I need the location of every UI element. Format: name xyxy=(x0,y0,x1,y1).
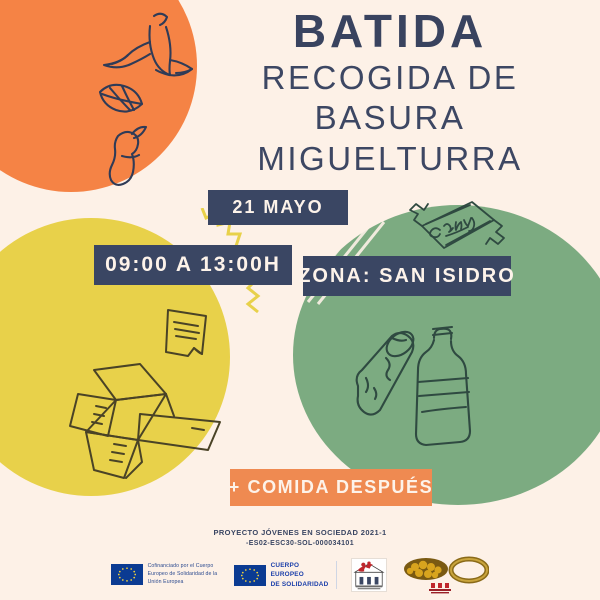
solidarity-corps-line-1: CUERPO xyxy=(271,561,329,570)
green-circle-decoration xyxy=(293,205,600,505)
town-hall-logo xyxy=(351,558,387,592)
town-hall-icon xyxy=(352,559,386,591)
project-reference-line-2: -ES02-ESC30-SOL-000034101 xyxy=(0,540,600,547)
eu-stars-icon-secondary xyxy=(234,565,266,586)
logo-european-solidarity-corps: CUERPO EUROPEO DE SOLIDARIDAD xyxy=(234,561,338,589)
headline-line-3: MIGUELTURRA xyxy=(186,139,594,180)
date-badge: 21 MAYO xyxy=(208,190,348,225)
association-logo xyxy=(401,556,489,594)
poster-canvas: BATIDA RECOGIDA DE BASURA MIGUELTURRA 21… xyxy=(0,0,600,600)
orange-circle-decoration xyxy=(0,0,197,192)
association-emblem-icon xyxy=(401,556,489,594)
zone-badge: ZONA: SAN ISIDRO xyxy=(303,256,511,296)
page-title: BATIDA RECOGIDA DE BASURA MIGUELTURRA xyxy=(186,6,594,180)
headline-title: BATIDA xyxy=(186,6,594,58)
project-reference: PROYECTO JÓVENES EN SOCIEDAD 2021-1 -ES0… xyxy=(0,528,600,547)
food-after-badge: + COMIDA DESPUÉS xyxy=(230,469,432,506)
logo-strip: Cofinanciado por el Cuerpo Europeo de So… xyxy=(0,553,600,597)
eu-flag-icon-secondary xyxy=(234,565,266,586)
eu-flag-icon xyxy=(111,564,143,585)
eu-stars-icon xyxy=(111,564,143,585)
headline-line-2: BASURA xyxy=(186,98,594,139)
headline-line-1: RECOGIDA DE xyxy=(186,58,594,99)
solidarity-corps-line-2: EUROPEO xyxy=(271,570,329,579)
cofinanced-text: Cofinanciado por el Cuerpo Europeo de So… xyxy=(148,563,220,586)
time-badge: 09:00 A 13:00H xyxy=(94,245,292,285)
solidarity-corps-line-3: DE SOLIDARIDAD xyxy=(271,580,329,589)
solidarity-corps-text: CUERPO EUROPEO DE SOLIDARIDAD xyxy=(271,561,329,589)
project-reference-line-1: PROYECTO JÓVENES EN SOCIEDAD 2021-1 xyxy=(0,528,600,537)
logo-cofinanced-eu: Cofinanciado por el Cuerpo Europeo de So… xyxy=(111,563,220,586)
